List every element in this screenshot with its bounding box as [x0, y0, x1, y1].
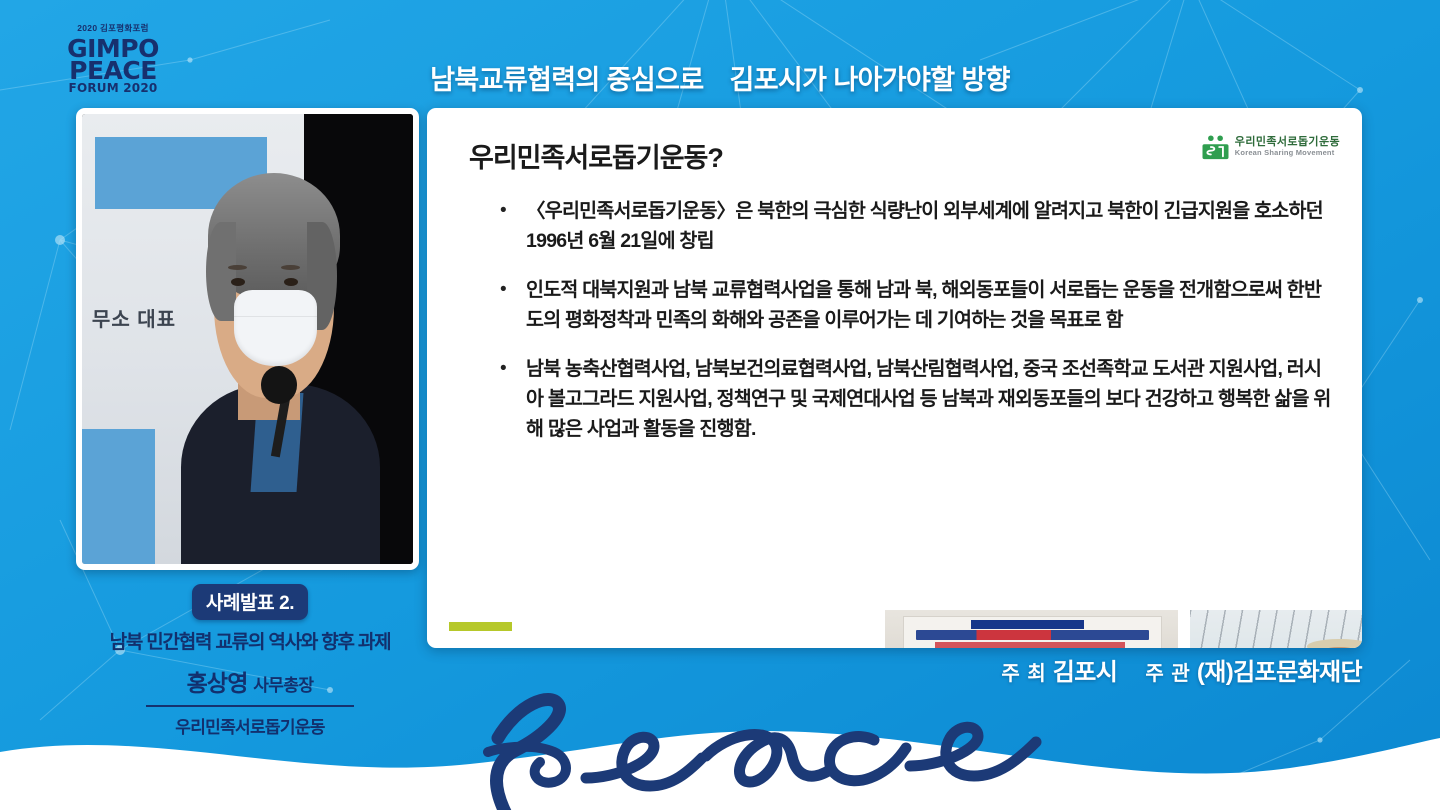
bullet-marker: • [495, 275, 526, 335]
banner-phone-bar [935, 642, 1126, 648]
sharing-logo-english: Korean Sharing Movement [1235, 149, 1340, 157]
slide-heading: 우리민족서로돕기운동? [469, 136, 723, 175]
photo-press-conference [882, 607, 1181, 648]
broadcast-stage: 2020 김포평화포럼 GIMPO PEACE FORUM 2020 남북교류협… [0, 0, 1440, 810]
slide-photo-strip [882, 607, 1362, 648]
sharing-logo-korean: 우리민족서로돕기운동 [1235, 137, 1340, 149]
page-title-part1: 남북교류협력의 중심으로 [430, 65, 704, 95]
slide-bullet: • 인도적 대북지원과 남북 교류협력사업을 통해 남과 북, 해외동포들이 서… [495, 275, 1336, 335]
bullet-text: 〈우리민족서로돕기운동〉은 북한의 극심한 식량난이 외부세계에 알려지고 북한… [526, 196, 1336, 256]
organizer-credits: 주 최 김포시 주 관 (재)김포문화재단 [1001, 652, 1362, 687]
bullet-marker: • [495, 196, 526, 256]
banner-headline-bar [971, 620, 1084, 629]
face-mask [234, 290, 317, 367]
microphone-icon [261, 366, 297, 404]
session-badge: 사례발표 2. [192, 584, 308, 620]
speaker-video-feed: 무소 대표 [82, 114, 413, 564]
manager-label: 주 관 [1145, 663, 1190, 685]
slide-bullet: • 남북 농축산협력사업, 남북보건의료협력사업, 남북산림협력사업, 중국 조… [495, 354, 1336, 444]
page-title: 남북교류협력의 중심으로 김포시가 나아가야할 방향 [0, 58, 1440, 97]
speaker-hair-left [206, 222, 236, 321]
presentation-slide[interactable]: 우리민족서로돕기운동? 우리민족서로돕기운동 Korean Sharing Mo… [427, 108, 1362, 648]
host-label: 주 최 [1001, 663, 1046, 685]
bullet-marker: • [495, 354, 526, 444]
backdrop-blue-band-bottom [82, 429, 155, 564]
sharing-logo-text: 우리민족서로돕기운동 Korean Sharing Movement [1235, 137, 1340, 157]
manager-name: (재)김포문화재단 [1197, 659, 1362, 686]
slide-bullet: • 〈우리민족서로돕기운동〉은 북한의 극심한 식량난이 외부세계에 알려지고 … [495, 196, 1336, 256]
slide-bullet-list: • 〈우리민족서로돕기운동〉은 북한의 극심한 식량난이 외부세계에 알려지고 … [495, 196, 1336, 463]
speaker-video[interactable]: 무소 대표 [76, 108, 419, 570]
banner-title-bar [916, 630, 1148, 641]
peace-wordmark [458, 686, 1078, 810]
page-title-part2: 김포시가 나아가야할 방향 [729, 65, 1009, 95]
photo-greenhouse-harvest [1187, 607, 1362, 648]
bullet-text: 인도적 대북지원과 남북 교류협력사업을 통해 남과 북, 해외동포들이 서로돕… [526, 275, 1336, 335]
press-banner [903, 616, 1163, 648]
bullet-text: 남북 농축산협력사업, 남북보건의료협력사업, 남북산림협력사업, 중국 조선족… [526, 354, 1336, 444]
sharing-hands-icon [1202, 134, 1229, 160]
session-subtitle: 남북 민간협력 교류의 역사와 향후 과제 [70, 627, 430, 654]
host-name: 김포시 [1053, 659, 1117, 686]
slide-accent-bar [449, 622, 512, 631]
forum-logo-korean: 2020 김포평화포럼 [58, 24, 168, 33]
korean-sharing-movement-logo: 우리민족서로돕기운동 Korean Sharing Movement [1202, 134, 1340, 160]
backdrop-text: 무소 대표 [92, 303, 176, 332]
